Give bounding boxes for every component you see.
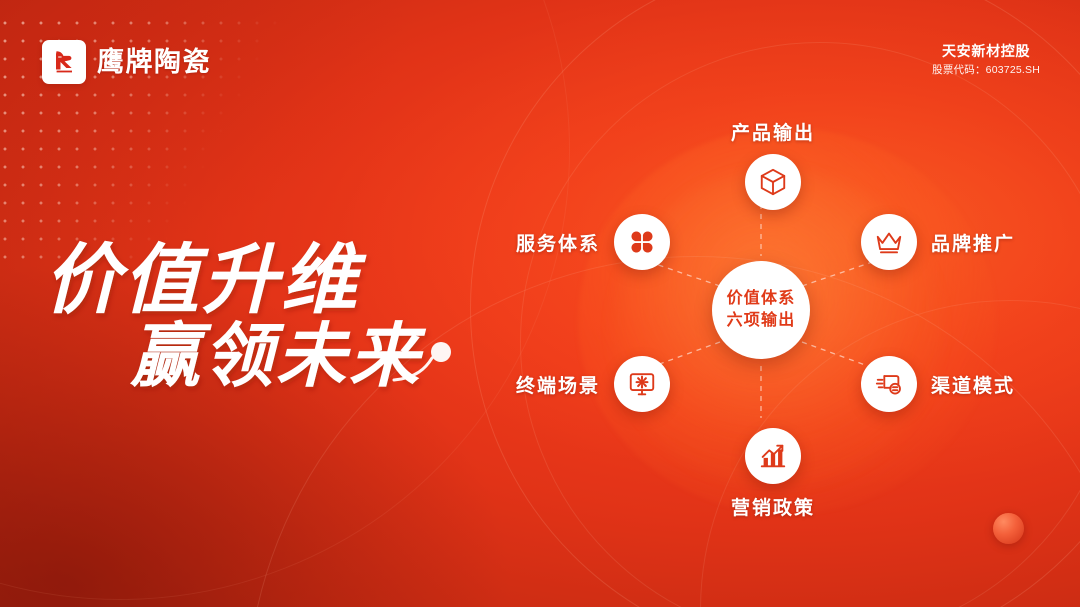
node-label: 营销政策 [731, 493, 815, 520]
headline-line-1: 价值升维 [44, 239, 367, 323]
diagram-node-terminal-scene[interactable]: 终端场景 [516, 356, 670, 412]
monitor-gear-icon [614, 356, 670, 412]
node-label: 终端场景 [516, 371, 600, 398]
brand-logo: 鹰牌陶瓷 [42, 40, 211, 84]
node-label: 产品输出 [731, 118, 815, 145]
node-label: 渠道模式 [931, 371, 1015, 398]
cube-box-icon [745, 154, 801, 210]
headline-line-2: 赢领未来 [129, 319, 427, 396]
diagram-node-product-output[interactable]: 产品输出 [731, 118, 815, 210]
hub-line-1: 价值体系 [727, 288, 796, 310]
brush-dot-accent [431, 342, 451, 362]
eagle-icon [42, 40, 86, 84]
crown-icon [861, 214, 917, 270]
diagram-node-channel-model[interactable]: 渠道模式 [861, 356, 1015, 412]
diagram-node-service-system[interactable]: 服务体系 [516, 214, 670, 270]
node-label: 服务体系 [516, 229, 600, 256]
four-petal-icon [614, 214, 670, 270]
corporate-info: 天安新材控股 股票代码：603725.SH [932, 42, 1040, 79]
logo-text: 鹰牌陶瓷 [97, 49, 211, 76]
headline-calligraphy: 价值升维 赢领未来 [44, 228, 474, 408]
growth-chart-icon [745, 428, 801, 484]
slide-canvas: 鹰牌陶瓷 天安新材控股 股票代码：603725.SH 价值升维 赢领未来 [0, 0, 1080, 607]
hub-line-2: 六项输出 [727, 310, 796, 332]
diagram-hub[interactable]: 价值体系 六项输出 [712, 261, 810, 359]
node-label: 品牌推广 [931, 229, 1015, 256]
diagram-node-brand-promotion[interactable]: 品牌推广 [861, 214, 1015, 270]
diagram-node-marketing-policy[interactable]: 营销政策 [731, 428, 815, 520]
value-system-diagram: 价值体系 六项输出 产品输出 营销政策 [496, 96, 1056, 526]
stock-code: 股票代码：603725.SH [932, 63, 1040, 79]
corporate-name: 天安新材控股 [932, 42, 1040, 61]
delivery-truck-icon [861, 356, 917, 412]
